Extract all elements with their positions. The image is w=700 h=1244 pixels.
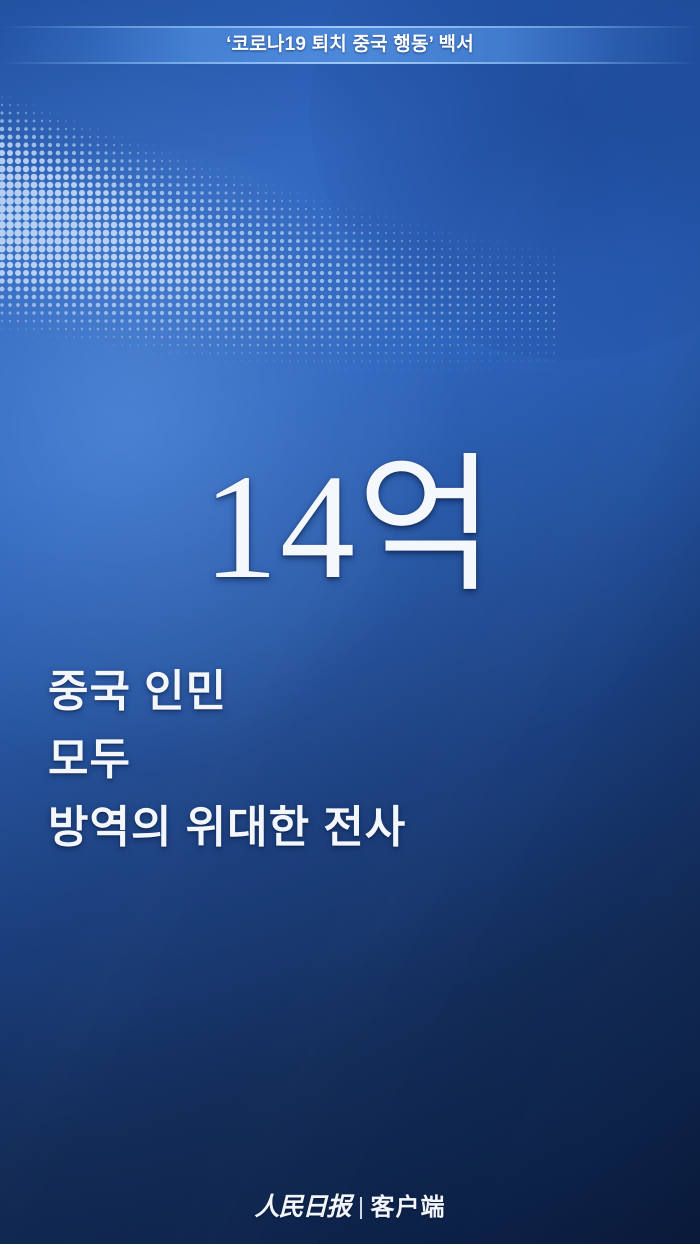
header-title: ‘코로나19 퇴치 중국 행동’ 백서 [0, 28, 700, 62]
brand-name-peoples-daily: 人民日报 [254, 1194, 350, 1222]
headline-line-3: 방역의 위대한 전사 [48, 794, 648, 862]
logo-divider [360, 1197, 362, 1219]
product-name-app: 客户端 [371, 1194, 446, 1222]
background-vignette [0, 0, 700, 1244]
big-number-value: 14억 [0, 452, 700, 602]
headline-line-1: 중국 인민 [48, 658, 648, 726]
footer-logo: 人民日报 客户端 [0, 1194, 700, 1222]
headline-line-2: 모두 [48, 726, 648, 794]
header-rule-bottom [0, 62, 700, 64]
headline-block: 중국 인민 모두 방역의 위대한 전사 [48, 658, 648, 862]
poster-canvas: ‘코로나19 퇴치 중국 행동’ 백서 14억 중국 인민 모두 방역의 위대한… [0, 0, 700, 1244]
